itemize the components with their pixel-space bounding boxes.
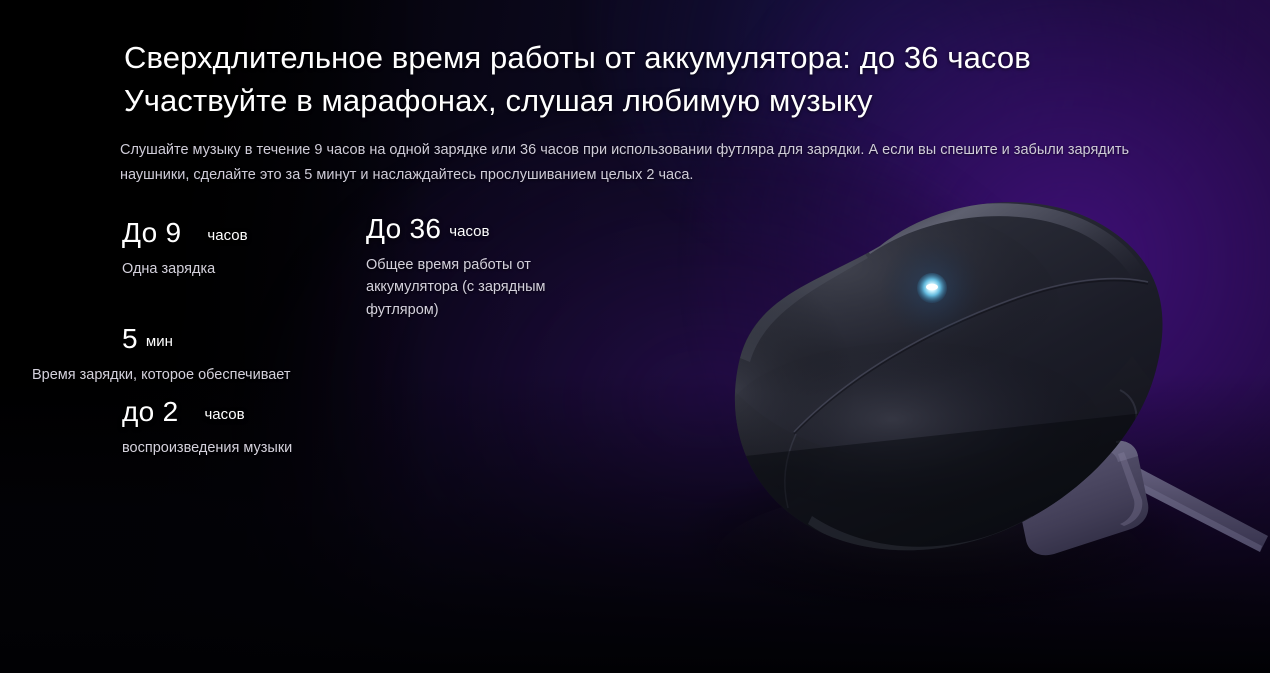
stat-unit: часов (449, 223, 489, 240)
stat-value: До 9 (122, 217, 181, 248)
stat-unit: часов (204, 406, 244, 423)
stat-description: Одна зарядка (122, 258, 248, 280)
headline-line-1: Сверхдлительное время работы от аккумуля… (124, 40, 1031, 75)
headline-line-2: Участвуйте в марафонах, слушая любимую м… (124, 80, 1194, 123)
stat-description: воспроизведения музыки (122, 437, 292, 459)
stat-figure: До 9часов (122, 219, 248, 247)
stat-figure: 5мин (122, 325, 381, 353)
stat-total-battery: До 36часов Общее время работы от аккумул… (366, 215, 596, 321)
copy-block: Сверхдлительное время работы от аккумуля… (0, 0, 1270, 673)
stat-value: До 36 (366, 213, 441, 244)
page-title: Сверхдлительное время работы от аккумуля… (124, 37, 1194, 123)
stat-playback: до 2часов воспроизведения музыки (122, 398, 292, 459)
stat-figure: До 36часов (366, 215, 596, 243)
battery-life-promo-banner: Сверхдлительное время работы от аккумуля… (0, 0, 1270, 673)
stat-description: Время зарядки, которое обеспечивает (32, 364, 291, 386)
stat-figure: до 2часов (122, 398, 292, 426)
stat-quick-charge: 5мин Время зарядки, которое обеспечивает (122, 325, 381, 386)
stat-value: 5 (122, 323, 138, 354)
stat-value: до 2 (122, 396, 178, 427)
stat-unit: мин (146, 333, 173, 350)
subcopy-paragraph: Слушайте музыку в течение 9 часов на одн… (120, 138, 1182, 189)
stat-unit: часов (207, 227, 247, 244)
stat-single-charge: До 9часов Одна зарядка (122, 219, 248, 280)
stat-description: Общее время работы от аккумулятора (с за… (366, 254, 596, 321)
